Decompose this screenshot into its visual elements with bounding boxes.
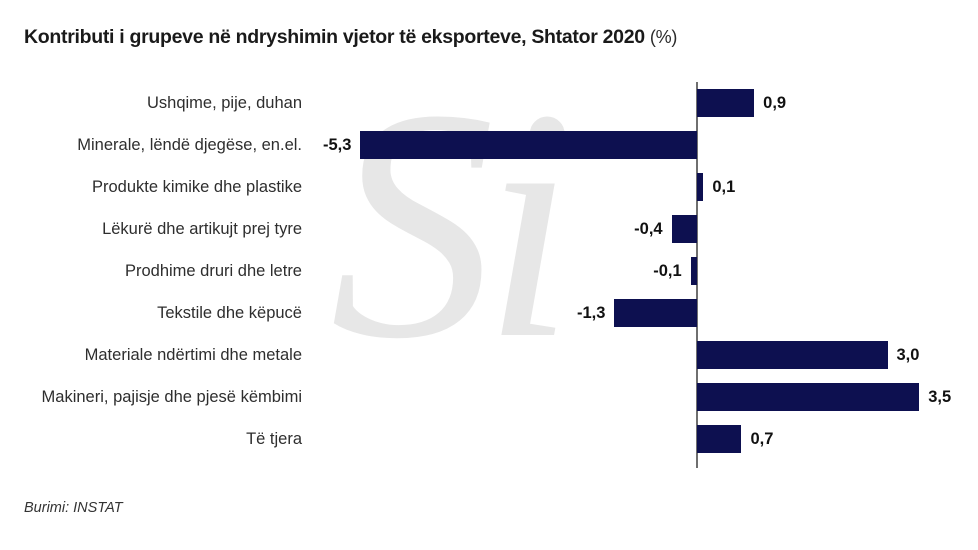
category-label: Makineri, pajisje dhe pjesë këmbimi	[0, 376, 302, 418]
bar	[697, 383, 919, 411]
category-label: Të tjera	[0, 418, 302, 460]
chart-row: Minerale, lëndë djegëse, en.el.-5,3	[0, 124, 978, 166]
chart-row: Lëkurë dhe artikujt prej tyre-0,4	[0, 208, 978, 250]
chart-title-main: Kontributi i grupeve në ndryshimin vjeto…	[24, 26, 645, 48]
value-label: -1,3	[577, 292, 605, 334]
bar	[672, 215, 697, 243]
bar	[614, 299, 697, 327]
bar	[697, 89, 754, 117]
category-label: Prodhime druri dhe letre	[0, 250, 302, 292]
category-label: Lëkurë dhe artikujt prej tyre	[0, 208, 302, 250]
bar	[697, 425, 741, 453]
chart-row: Tekstile dhe këpucë-1,3	[0, 292, 978, 334]
chart-title: Kontributi i grupeve në ndryshimin vjeto…	[24, 26, 677, 49]
value-label: 3,0	[897, 334, 920, 376]
chart-row: Të tjera0,7	[0, 418, 978, 460]
chart-row: Ushqime, pije, duhan0,9	[0, 82, 978, 124]
chart-row: Makineri, pajisje dhe pjesë këmbimi3,5	[0, 376, 978, 418]
category-label: Materiale ndërtimi dhe metale	[0, 334, 302, 376]
value-label: 0,7	[750, 418, 773, 460]
bar	[360, 131, 697, 159]
value-label: -0,1	[653, 250, 681, 292]
value-label: 3,5	[928, 376, 951, 418]
chart-title-unit: (%)	[650, 27, 677, 47]
category-label: Ushqime, pije, duhan	[0, 82, 302, 124]
bar	[697, 341, 888, 369]
chart-page: Si Kontributi i grupeve në ndryshimin vj…	[0, 0, 978, 550]
value-label: -5,3	[323, 124, 351, 166]
bar	[691, 257, 697, 285]
value-label: -0,4	[634, 208, 662, 250]
chart-row: Produkte kimike dhe plastike0,1	[0, 166, 978, 208]
plot-area: Ushqime, pije, duhan0,9Minerale, lëndë d…	[0, 0, 978, 550]
value-label: 0,9	[763, 82, 786, 124]
source-note: Burimi: INSTAT	[24, 500, 123, 516]
chart-row: Materiale ndërtimi dhe metale3,0	[0, 334, 978, 376]
category-label: Tekstile dhe këpucë	[0, 292, 302, 334]
category-label: Minerale, lëndë djegëse, en.el.	[0, 124, 302, 166]
category-label: Produkte kimike dhe plastike	[0, 166, 302, 208]
chart-row: Prodhime druri dhe letre-0,1	[0, 250, 978, 292]
bar	[697, 173, 703, 201]
value-label: 0,1	[712, 166, 735, 208]
